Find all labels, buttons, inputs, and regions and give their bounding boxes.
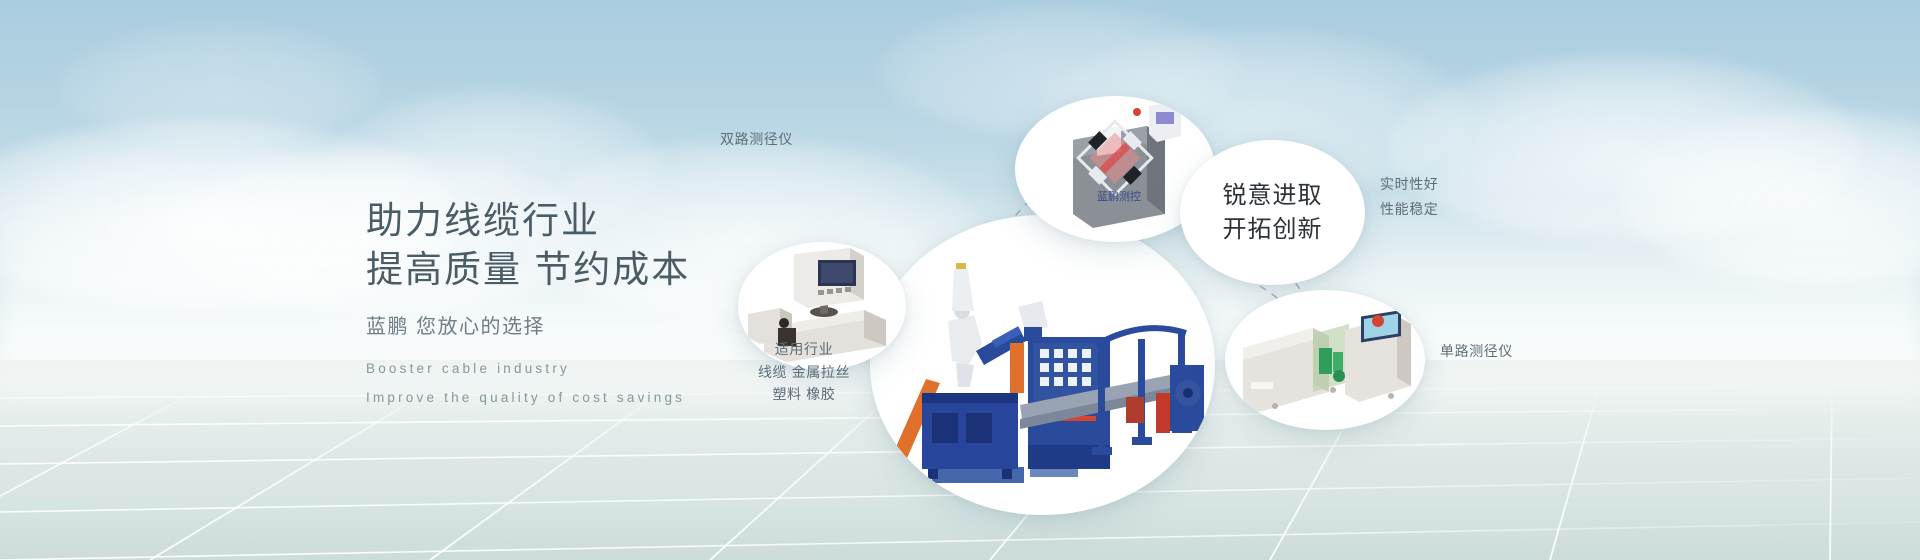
brand-mark-text: 蓝鹏测控 [1097,189,1141,203]
production-line-illustration [870,215,1215,515]
cloud-decoration [60,25,380,145]
industry-title: 适用行业 [718,338,890,361]
headline-copy-block: 助力线缆行业 提高质量 节约成本 蓝鹏 您放心的选择 Booster cable… [366,196,690,411]
feature-item-realtime: 实时性好 [1380,172,1438,197]
production-line-bubble [870,215,1215,515]
page-title-line-2: 提高质量 节约成本 [366,245,690,294]
slogan-text: 锐意进取 开拓创新 [1223,179,1323,245]
slogan-line-2: 开拓创新 [1223,213,1323,246]
single-gauge-illustration [1225,290,1425,430]
industry-line-2: 塑料 橡胶 [718,383,890,406]
product-cluster: 蓝鹏测控 [880,0,1920,560]
industry-list: 适用行业 线缆 金属拉丝 塑料 橡胶 [718,338,890,406]
feature-list: 实时性好 性能稳定 [1380,172,1438,221]
label-dual-gauge: 双路测径仪 [720,128,793,150]
english-tagline-1: Booster cable industry [366,355,690,382]
feature-item-stability: 性能稳定 [1380,197,1438,222]
subheadline: 蓝鹏 您放心的选择 [366,310,690,339]
slogan-bubble: 锐意进取 开拓创新 [1180,140,1365,285]
label-single-gauge: 单路测径仪 [1440,340,1513,362]
page-title-line-1: 助力线缆行业 [366,196,690,245]
single-gauge-bubble [1225,290,1425,430]
english-tagline-2: Improve the quality of cost savings [366,384,690,411]
industry-line-1: 线缆 金属拉丝 [718,361,890,384]
slogan-line-1: 锐意进取 [1223,179,1323,212]
hero-banner: 助力线缆行业 提高质量 节约成本 蓝鹏 您放心的选择 Booster cable… [0,0,1920,560]
